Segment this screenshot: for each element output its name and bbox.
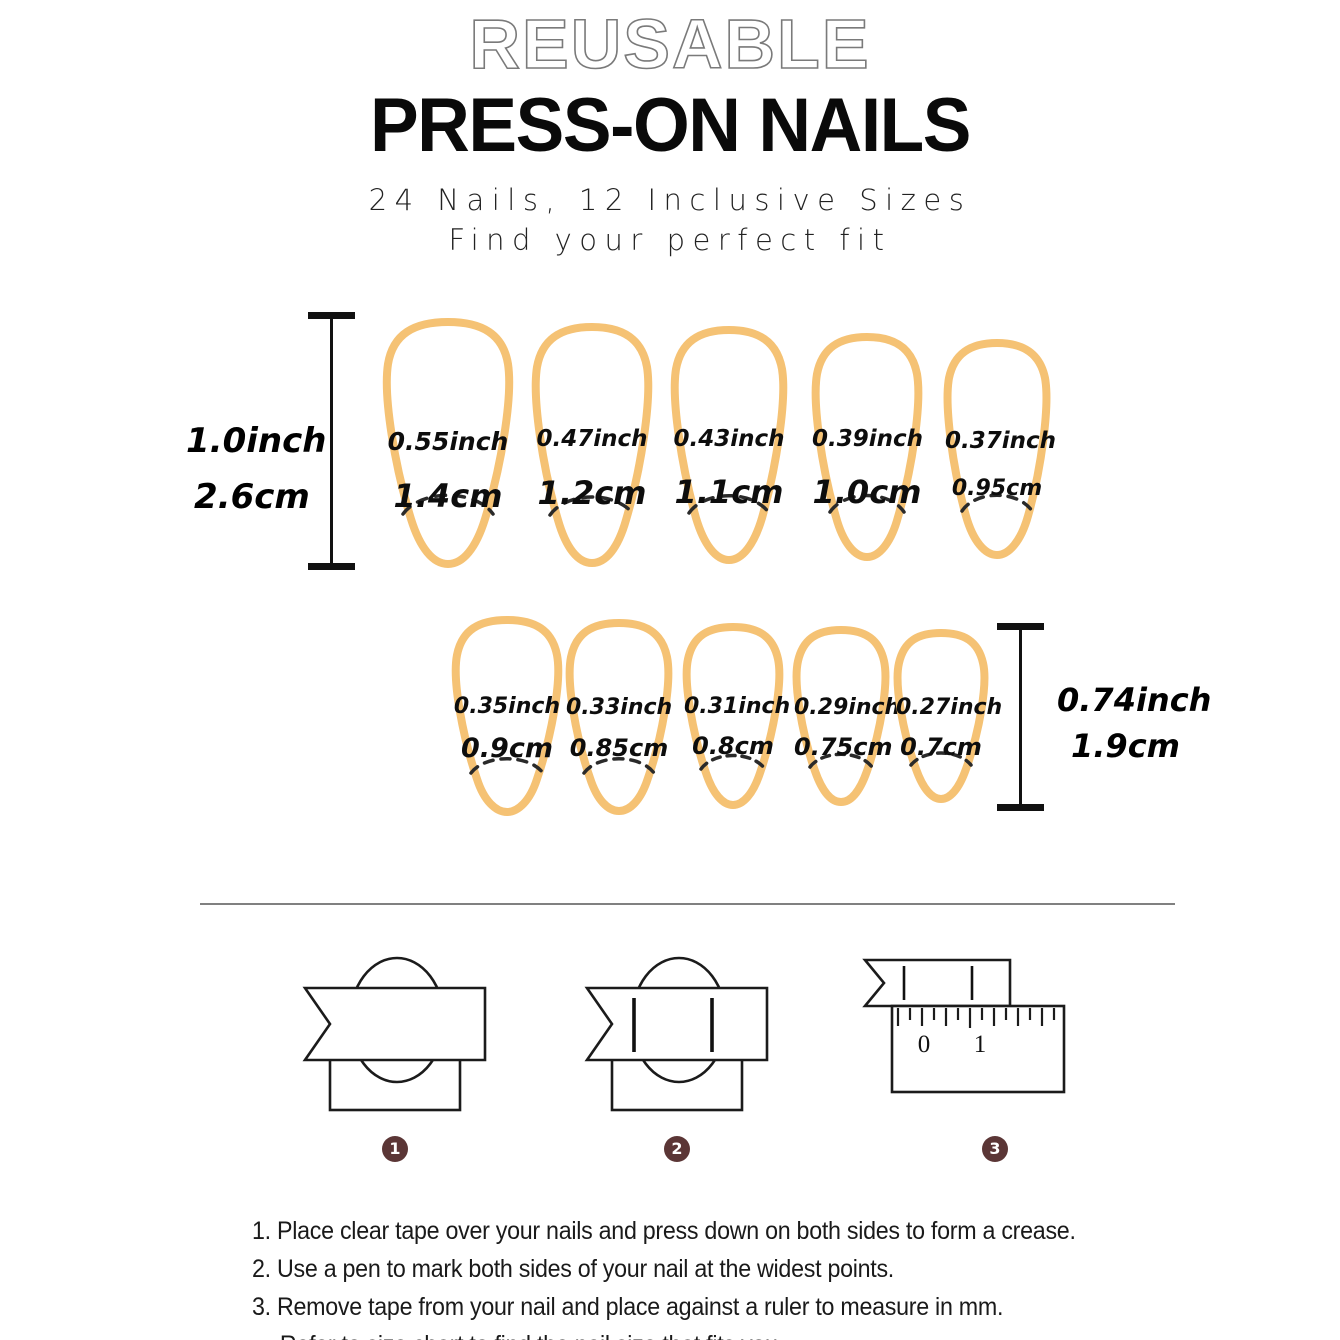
nail-size-9: 0.27inch 0.7cm bbox=[896, 628, 986, 804]
nail-size-4: 0.37inch 0.95cm bbox=[945, 338, 1049, 560]
instruction-3-continued: Refer to size chart to find the nail siz… bbox=[252, 1326, 1182, 1340]
nail-size-7: 0.31inch 0.8cm bbox=[684, 622, 782, 810]
nail-size-7-cm: 0.8cm bbox=[684, 732, 782, 760]
nail-size-9-cm: 0.7cm bbox=[896, 733, 986, 761]
nail-size-8-inch: 0.29inch bbox=[794, 695, 888, 720]
row2-length-inch-label: 0.74inch bbox=[1057, 681, 1211, 719]
nail-size-2-cm: 1.1cm bbox=[670, 473, 788, 511]
step-1-diagram: 1 bbox=[300, 930, 495, 1120]
instruction-2: 2. Use a pen to mark both sides of your … bbox=[252, 1250, 1182, 1288]
nail-size-3-inch: 0.39inch bbox=[812, 426, 922, 452]
step-2-badge: 2 bbox=[664, 1136, 690, 1162]
nail-size-3: 0.39inch 1.0cm bbox=[812, 332, 922, 562]
nail-size-0-cm: 1.4cm bbox=[381, 477, 515, 515]
instructions-list: 1. Place clear tape over your nails and … bbox=[252, 1212, 1252, 1340]
nail-size-8-cm: 0.75cm bbox=[794, 733, 888, 761]
nail-size-1: 0.47inch 1.2cm bbox=[530, 322, 654, 568]
nail-size-2-inch: 0.43inch bbox=[670, 426, 788, 452]
size-chart: 1.0inch 2.6cm 0.55inch 1.4cm 0.47inch 1.… bbox=[0, 0, 1340, 880]
section-divider bbox=[200, 903, 1175, 905]
row1-length-inch-label: 1.0inch bbox=[186, 421, 326, 461]
nail-size-0: 0.55inch 1.4cm bbox=[381, 317, 515, 569]
row1-length-measure-bar bbox=[330, 312, 333, 570]
nail-size-7-inch: 0.31inch bbox=[684, 694, 782, 719]
nail-size-chart-page: REUSABLE PRESS-ON NAILS 24 Nails, 12 Inc… bbox=[0, 0, 1340, 1340]
ruler-tick-1: 1 bbox=[974, 1031, 987, 1058]
ruler-tick-0: 0 bbox=[918, 1031, 931, 1058]
step-2-diagram: 2 bbox=[582, 930, 777, 1120]
row2-length-cm-label: 1.9cm bbox=[1071, 727, 1180, 765]
nail-size-6: 0.33inch 0.85cm bbox=[566, 618, 672, 816]
nail-size-5-cm: 0.9cm bbox=[452, 733, 562, 764]
row1-length-cm-label: 2.6cm bbox=[194, 477, 310, 517]
row2-length-measure-bar bbox=[1019, 623, 1022, 811]
nail-size-6-inch: 0.33inch bbox=[566, 695, 672, 720]
nail-size-5: 0.35inch 0.9cm bbox=[452, 615, 562, 817]
step-3-diagram: 0 1 3 bbox=[862, 930, 1092, 1120]
instruction-1: 1. Place clear tape over your nails and … bbox=[252, 1212, 1182, 1250]
nail-size-5-inch: 0.35inch bbox=[452, 694, 562, 719]
nail-size-1-inch: 0.47inch bbox=[530, 426, 654, 452]
instruction-3: 3. Remove tape from your nail and place … bbox=[252, 1288, 1182, 1326]
nail-size-3-cm: 1.0cm bbox=[812, 473, 922, 511]
nail-size-2: 0.43inch 1.1cm bbox=[670, 325, 788, 565]
nail-size-4-inch: 0.37inch bbox=[945, 428, 1049, 454]
nail-size-1-cm: 1.2cm bbox=[530, 474, 654, 512]
step-1-badge: 1 bbox=[382, 1136, 408, 1162]
nail-size-6-cm: 0.85cm bbox=[566, 734, 672, 762]
nail-size-0-inch: 0.55inch bbox=[381, 427, 515, 456]
step-3-badge: 3 bbox=[982, 1136, 1008, 1162]
nail-size-8: 0.29inch 0.75cm bbox=[794, 625, 888, 807]
how-to-measure-diagrams: 1 2 bbox=[0, 930, 1340, 1180]
nail-size-4-cm: 0.95cm bbox=[945, 476, 1049, 501]
nail-size-9-inch: 0.27inch bbox=[896, 695, 986, 720]
